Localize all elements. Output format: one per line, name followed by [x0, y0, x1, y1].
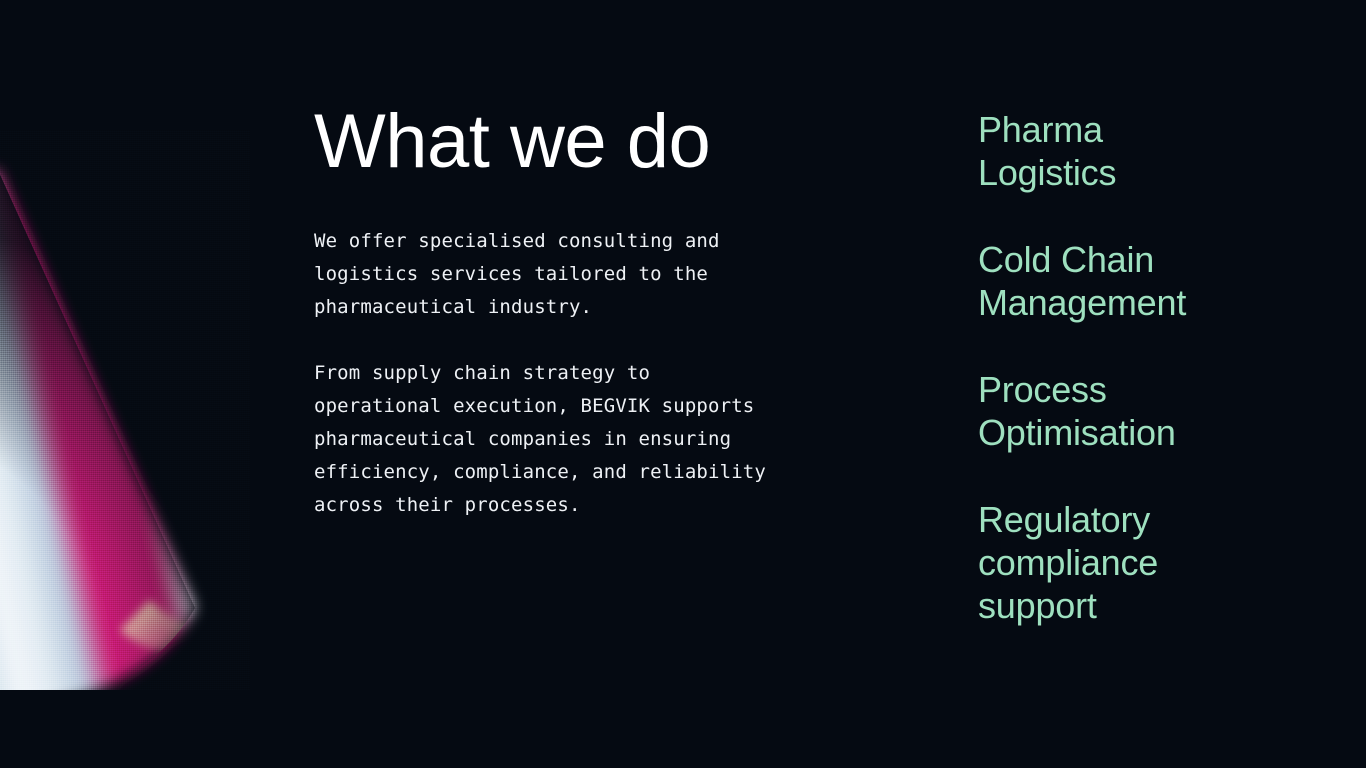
body-paragraph-1: We offer specialised consulting and logi…: [314, 225, 784, 324]
service-item-pharma-logistics[interactable]: Pharma Logistics: [978, 108, 1298, 194]
gradient-cone-graphic: [0, 130, 250, 690]
service-item-cold-chain-management[interactable]: Cold Chain Management: [978, 238, 1298, 324]
body-paragraph-2: From supply chain strategy to operationa…: [314, 357, 784, 522]
services-list: Pharma Logistics Cold Chain Management P…: [978, 108, 1298, 627]
slide-canvas: What we do We offer specialised consulti…: [0, 0, 1366, 768]
body-text-block: We offer specialised consulting and logi…: [314, 225, 784, 522]
service-item-regulatory-compliance-support[interactable]: Regulatory compliance support: [978, 498, 1298, 627]
service-item-process-optimisation[interactable]: Process Optimisation: [978, 368, 1298, 454]
grain-texture-overlay: [0, 130, 250, 690]
main-content-column: What we do We offer specialised consulti…: [314, 104, 784, 522]
page-title: What we do: [314, 104, 784, 180]
